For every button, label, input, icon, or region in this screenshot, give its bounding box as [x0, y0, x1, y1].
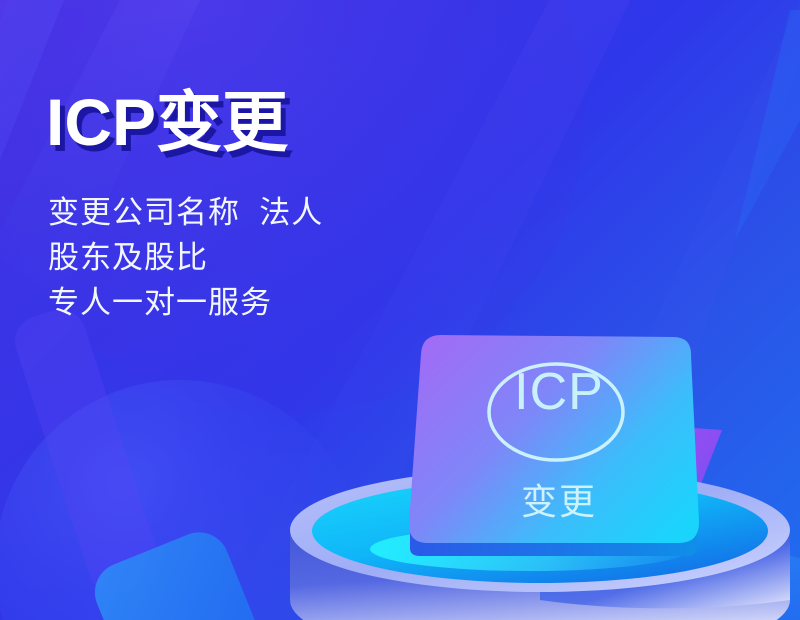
subtitle-line-2: 股东及股比 [48, 235, 323, 280]
subtitle-line-3: 专人一对一服务 [48, 280, 323, 325]
page-title: ICP变更 [46, 84, 323, 160]
icp-banner: ICP 变更 ICP变更 变更公司名称 法人 股东及股比 专人一对一服务 [0, 0, 800, 620]
subtitle-list: 变更公司名称 法人 股东及股比 专人一对一服务 [48, 190, 323, 325]
headline-block: ICP变更 变更公司名称 法人 股东及股比 专人一对一服务 [46, 84, 323, 325]
subtitle-line-1: 变更公司名称 法人 [48, 190, 323, 235]
card-face [409, 335, 699, 543]
